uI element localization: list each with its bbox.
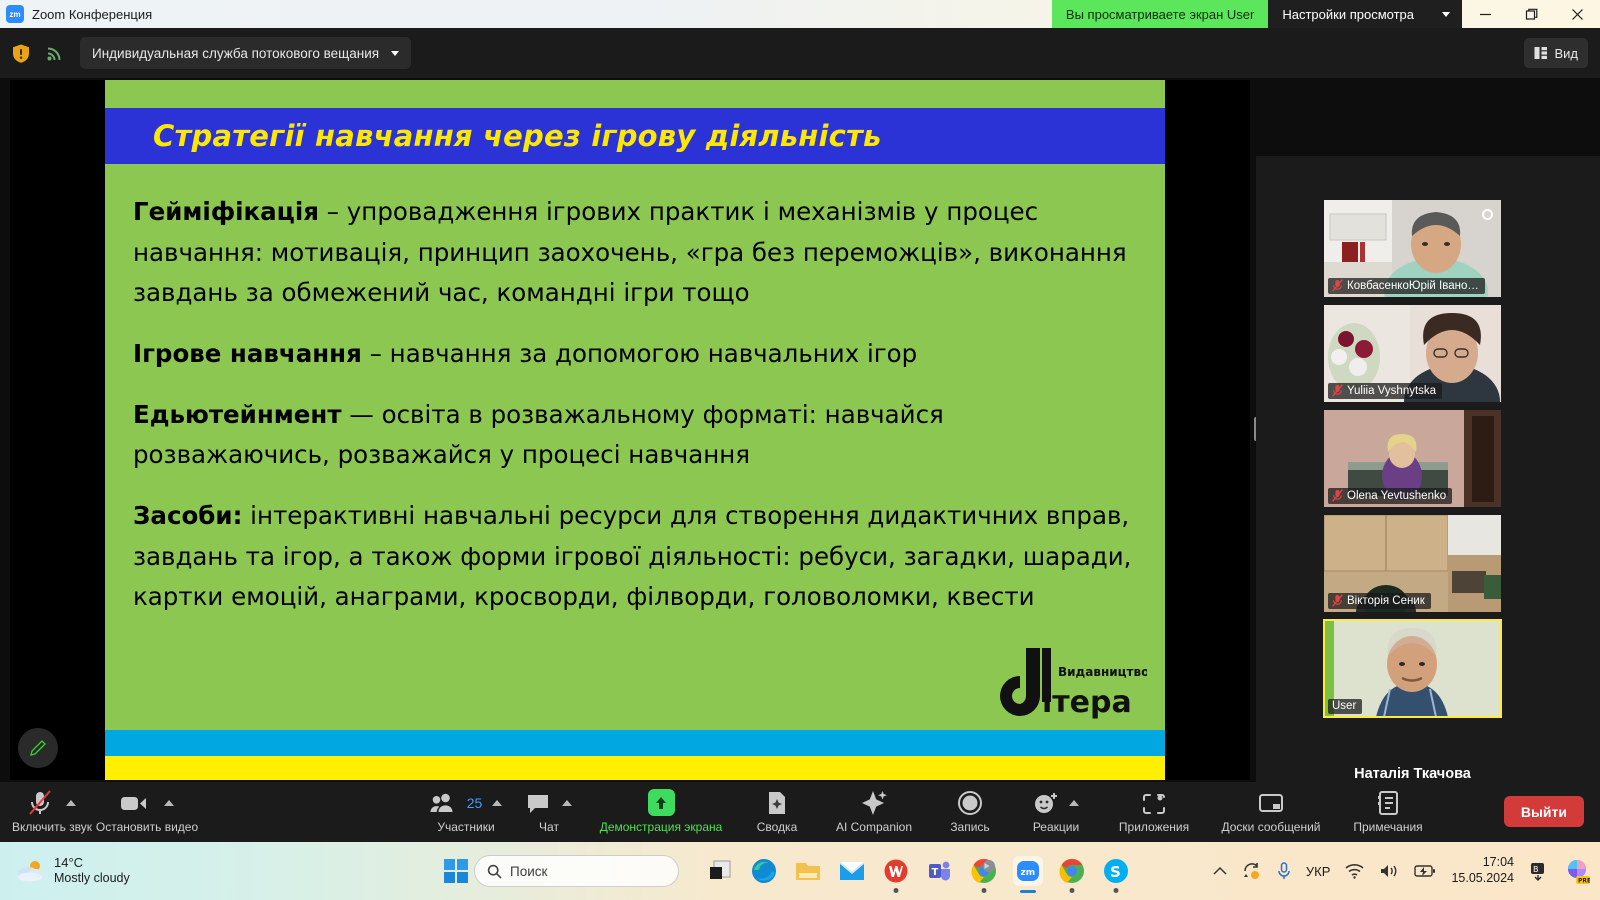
keyboard-language-indicator[interactable]: УКР bbox=[1306, 864, 1331, 879]
participants-icon bbox=[430, 793, 456, 813]
toolbar-item-notes[interactable]: Примечания bbox=[1336, 783, 1440, 841]
app-running-indicator bbox=[894, 888, 899, 893]
recording-indicator-icon bbox=[1482, 209, 1493, 220]
window-title-bar: zm Zoom Конференция Вы просматриваете эк… bbox=[0, 0, 1600, 28]
mic-off-icon bbox=[1332, 594, 1343, 607]
slide-paragraph-text: інтерактивні навчальні ресурси для створ… bbox=[133, 501, 1131, 611]
partly-cloudy-icon bbox=[16, 858, 46, 884]
chrome-icon[interactable] bbox=[1057, 856, 1087, 886]
svg-text:PRE: PRE bbox=[1578, 878, 1590, 885]
weather-temperature: 14°C bbox=[54, 855, 130, 871]
windows-start-icon[interactable] bbox=[444, 859, 468, 883]
video-tile[interactable]: Yuliia Vyshnytska bbox=[1324, 305, 1501, 402]
update-icon[interactable] bbox=[1242, 862, 1262, 880]
search-icon bbox=[487, 864, 502, 879]
mic-off-icon bbox=[28, 790, 52, 816]
toolbar-item-participants[interactable]: 25 Участники bbox=[420, 783, 512, 841]
participant-name: Yuliia Vyshnytska bbox=[1347, 385, 1436, 397]
meeting-controls-toolbar: Включить звук Остановить видео 25 Участн… bbox=[0, 782, 1600, 842]
toolbar-item-record[interactable]: Запись bbox=[930, 783, 1010, 841]
taskbar-search-box[interactable]: Поиск bbox=[474, 855, 679, 887]
svg-text:B: B bbox=[1533, 865, 1539, 874]
participant-name: User bbox=[1332, 700, 1356, 712]
slide-footer-yellow bbox=[105, 756, 1165, 780]
notes-icon bbox=[1376, 790, 1400, 816]
video-tile-self[interactable]: User bbox=[1324, 620, 1501, 717]
stream-toolbar: Индивидуальная служба потокового вещания… bbox=[0, 28, 1600, 78]
chevron-down-icon bbox=[1442, 12, 1450, 17]
streaming-service-dropdown[interactable]: Индивидуальная служба потокового вещания bbox=[80, 37, 411, 69]
slide-title-bar: Стратегії навчання через ігрову діяльніс… bbox=[105, 108, 1165, 164]
leave-meeting-button[interactable]: Выйти bbox=[1504, 796, 1584, 827]
mail-icon[interactable] bbox=[837, 856, 867, 886]
chevron-up-icon[interactable] bbox=[1213, 866, 1227, 876]
minimize-button[interactable] bbox=[1462, 0, 1508, 28]
zoom-icon[interactable]: zm bbox=[1013, 856, 1043, 886]
windows-taskbar: 14°C Mostly cloudy Поиск bbox=[0, 842, 1600, 900]
toolbar-label-participants: Участники bbox=[437, 820, 494, 834]
window-controls bbox=[1462, 0, 1600, 28]
system-tray: УКР 17:04 15.05.2024 B PRE bbox=[1213, 855, 1590, 886]
taskbar-clock[interactable]: 17:04 15.05.2024 bbox=[1451, 855, 1514, 886]
toolbar-item-audio[interactable]: Включить звук bbox=[12, 783, 92, 841]
annotate-pen-button[interactable] bbox=[18, 728, 58, 768]
shield-warning-icon[interactable] bbox=[10, 42, 32, 64]
taskbar-app-icons: T zm S bbox=[705, 856, 1131, 886]
summary-icon bbox=[765, 790, 789, 816]
apps-icon bbox=[1141, 792, 1167, 816]
chevron-up-icon[interactable] bbox=[1069, 800, 1079, 806]
participants-filmstrip: КовбасенкоЮрій Івано… bbox=[1256, 156, 1600, 860]
taskbar-weather-widget[interactable]: 14°C Mostly cloudy bbox=[16, 855, 130, 887]
share-screen-icon bbox=[648, 789, 675, 816]
chevron-up-icon[interactable] bbox=[66, 800, 76, 806]
mic-off-icon bbox=[1332, 384, 1343, 397]
weather-condition: Mostly cloudy bbox=[54, 871, 130, 887]
wifi-icon[interactable] bbox=[1345, 863, 1364, 879]
notifications-icon[interactable]: B bbox=[1529, 861, 1549, 881]
toolbar-label-video: Остановить видео bbox=[96, 820, 198, 834]
app-running-indicator bbox=[1114, 888, 1119, 893]
slide-paragraph: Едьютейнмент — освіта в розважальному фо… bbox=[133, 395, 1135, 476]
clock-date: 15.05.2024 bbox=[1451, 871, 1514, 887]
participant-name-tag: Yuliia Vyshnytska bbox=[1328, 383, 1442, 399]
publisher-logo: Видавництво ітера bbox=[982, 642, 1147, 722]
task-view-icon[interactable] bbox=[705, 856, 735, 886]
teams-icon[interactable]: T bbox=[925, 856, 955, 886]
wps-office-icon[interactable] bbox=[881, 856, 911, 886]
participant-name: Olena Yevtushenko bbox=[1347, 490, 1446, 502]
chrome-meet-icon[interactable] bbox=[969, 856, 999, 886]
zoom-meeting-window: zm Zoom Конференция Вы просматриваете эк… bbox=[0, 0, 1600, 900]
battery-charging-icon[interactable] bbox=[1414, 864, 1436, 878]
search-placeholder: Поиск bbox=[510, 864, 547, 879]
mic-off-icon bbox=[1332, 489, 1343, 502]
view-layout-button[interactable]: Вид bbox=[1524, 38, 1588, 68]
app-running-indicator bbox=[1020, 890, 1036, 893]
slide-body: Гейміфікація – упровадження ігрових прак… bbox=[105, 164, 1165, 730]
skype-icon[interactable]: S bbox=[1101, 856, 1131, 886]
toolbar-label-reactions: Реакции bbox=[1033, 820, 1079, 834]
pen-icon bbox=[28, 738, 48, 758]
slide-paragraph-text: – навчання за допомогою навчальних ігор bbox=[362, 339, 917, 368]
chat-icon bbox=[526, 793, 550, 814]
camera-icon bbox=[120, 793, 148, 813]
maximize-restore-button[interactable] bbox=[1508, 0, 1554, 28]
view-settings-button[interactable]: Настройки просмотра bbox=[1268, 0, 1462, 28]
slide-paragraph-lead: Едьютейнмент bbox=[133, 400, 342, 429]
toolbar-label-ai-companion: AI Companion bbox=[836, 820, 912, 834]
video-tile[interactable]: КовбасенкоЮрій Івано… bbox=[1324, 200, 1501, 297]
participant-name: Вікторія Сеник bbox=[1347, 595, 1425, 607]
toolbar-item-ai-companion[interactable]: AI Companion bbox=[818, 783, 930, 841]
participant-name-tag: User bbox=[1328, 699, 1362, 714]
slide-title: Стратегії навчання через ігрову діяльніс… bbox=[105, 119, 882, 153]
slide-footer-blue bbox=[105, 730, 1165, 756]
layout-icon bbox=[1534, 46, 1548, 60]
participant-name-tag: Вікторія Сеник bbox=[1328, 593, 1431, 609]
microphone-icon[interactable] bbox=[1277, 862, 1291, 880]
view-label: Вид bbox=[1554, 46, 1578, 61]
reactions-icon bbox=[1033, 791, 1059, 815]
app-running-indicator bbox=[1070, 888, 1075, 893]
slide-paragraph: Гейміфікація – упровадження ігрових прак… bbox=[133, 192, 1135, 314]
toolbar-item-chat[interactable]: Чат bbox=[512, 783, 586, 841]
participants-count: 25 bbox=[467, 795, 483, 811]
toolbar-item-video[interactable]: Остановить видео bbox=[92, 783, 202, 841]
toolbar-label-audio: Включить звук bbox=[12, 820, 92, 834]
chevron-up-icon[interactable] bbox=[492, 800, 502, 806]
toolbar-label-record: Запись bbox=[950, 820, 989, 834]
svg-text:Видавництво: Видавництво bbox=[1058, 665, 1147, 679]
toolbar-item-whiteboards[interactable]: Доски сообщений bbox=[1206, 783, 1336, 841]
streaming-service-label: Индивидуальная служба потокового вещания bbox=[92, 46, 379, 61]
toolbar-label-apps: Приложения bbox=[1119, 820, 1189, 834]
shared-screen-area: Стратегії навчання через ігрову діяльніс… bbox=[10, 80, 1250, 780]
chevron-up-icon[interactable] bbox=[562, 800, 572, 806]
ai-sparkle-icon bbox=[860, 790, 888, 816]
slide-paragraph-lead: Гейміфікація bbox=[133, 197, 319, 226]
edge-icon[interactable] bbox=[749, 856, 779, 886]
slide-paragraph-lead: Ігрове навчання bbox=[133, 339, 362, 368]
participant-name-tag: Olena Yevtushenko bbox=[1328, 488, 1452, 504]
slide-paragraph: Засоби: інтерактивні навчальні ресурси д… bbox=[133, 496, 1135, 618]
broadcast-icon[interactable] bbox=[44, 42, 66, 64]
toolbar-item-summary[interactable]: Сводка bbox=[736, 783, 818, 841]
zoom-logo-icon: zm bbox=[6, 5, 24, 23]
svg-text:S: S bbox=[1110, 863, 1121, 881]
participant-display-name: Наталія Ткачова bbox=[1354, 766, 1471, 782]
svg-text:zm: zm bbox=[1021, 868, 1036, 878]
chevron-up-icon[interactable] bbox=[164, 800, 174, 806]
toolbar-item-reactions[interactable]: Реакции bbox=[1010, 783, 1102, 841]
slide-paragraph: Ігрове навчання – навчання за допомогою … bbox=[133, 334, 1135, 375]
video-tile[interactable]: Вікторія Сеник bbox=[1324, 515, 1501, 612]
chevron-down-icon bbox=[391, 51, 399, 56]
toolbar-label-chat: Чат bbox=[539, 820, 559, 834]
svg-text:ітера: ітера bbox=[1042, 685, 1132, 720]
toolbar-item-apps[interactable]: Приложения bbox=[1102, 783, 1206, 841]
presentation-slide: Стратегії навчання через ігрову діяльніс… bbox=[105, 80, 1165, 780]
toolbar-item-share-screen[interactable]: Демонстрация экрана bbox=[586, 783, 736, 841]
toolbar-label-summary: Сводка bbox=[757, 820, 798, 834]
toolbar-label-share-screen: Демонстрация экрана bbox=[600, 820, 723, 834]
close-button[interactable] bbox=[1554, 0, 1600, 28]
video-tile[interactable]: Olena Yevtushenko bbox=[1324, 410, 1501, 507]
participant-name-tag: КовбасенкоЮрій Івано… bbox=[1328, 278, 1485, 294]
file-explorer-icon[interactable] bbox=[793, 856, 823, 886]
slide-top-strip bbox=[105, 80, 1165, 108]
mic-off-icon bbox=[1332, 279, 1343, 292]
volume-icon[interactable] bbox=[1379, 863, 1399, 879]
clock-time: 17:04 bbox=[1483, 855, 1514, 871]
whiteboard-icon bbox=[1258, 792, 1284, 816]
copilot-pre-icon[interactable]: PRE bbox=[1564, 858, 1590, 884]
screen-share-banner: Вы просматриваете экран User bbox=[1052, 0, 1268, 28]
slide-paragraph-lead: Засоби: bbox=[133, 501, 242, 530]
view-settings-label: Настройки просмотра bbox=[1282, 7, 1414, 22]
window-title: Zoom Конференция bbox=[32, 7, 152, 22]
svg-text:T: T bbox=[932, 867, 939, 878]
app-running-indicator bbox=[982, 888, 987, 893]
participant-name: КовбасенкоЮрій Івано… bbox=[1347, 280, 1479, 292]
record-icon bbox=[957, 790, 983, 816]
toolbar-label-notes: Примечания bbox=[1353, 820, 1422, 834]
toolbar-label-whiteboards: Доски сообщений bbox=[1221, 820, 1320, 834]
meeting-stage: Стратегії навчання через ігрову діяльніс… bbox=[0, 78, 1600, 782]
